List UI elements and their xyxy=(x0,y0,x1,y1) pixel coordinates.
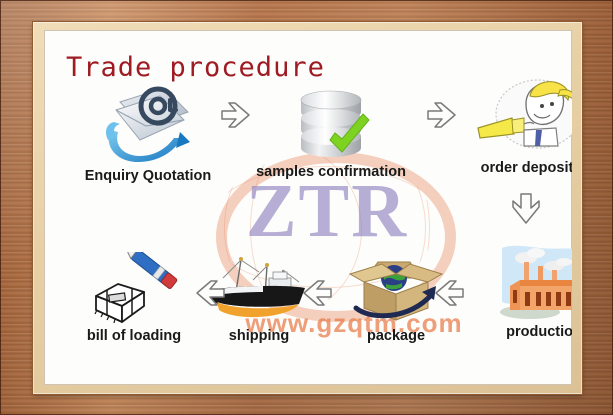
step-label: package xyxy=(336,328,456,344)
step-label: bill of loading xyxy=(56,328,212,344)
step-package: package xyxy=(336,252,456,344)
step-label: production xyxy=(469,324,572,340)
step-samples-confirmation: samples confirmation xyxy=(240,78,422,180)
factory-icon xyxy=(496,242,572,322)
step-label: Enquiry Quotation xyxy=(58,168,238,184)
step-enquiry-quotation: Enquiry Quotation xyxy=(58,82,238,184)
wooden-picture-frame: ZTR www.gzqtm.com Trade procedure xyxy=(0,0,613,415)
step-production: production xyxy=(469,242,572,340)
watermark-brand: ZTR xyxy=(222,173,432,249)
step-bill-of-loading: bill of loading xyxy=(56,252,212,344)
person-speaking-icon xyxy=(472,72,572,158)
arrow-deposit-to-production xyxy=(511,192,541,228)
database-check-icon xyxy=(290,78,372,162)
email-envelope-icon xyxy=(102,82,194,166)
step-label: order deposit xyxy=(444,160,572,176)
frame-mat: ZTR www.gzqtm.com Trade procedure xyxy=(33,22,582,394)
diagram-canvas: ZTR www.gzqtm.com Trade procedure xyxy=(44,30,572,385)
step-label: samples confirmation xyxy=(240,164,422,180)
open-box-globe-icon xyxy=(348,252,444,326)
pen-parcel-icon xyxy=(88,252,180,326)
step-order-deposit: order deposit xyxy=(444,72,572,176)
step-label: shipping xyxy=(194,328,324,344)
